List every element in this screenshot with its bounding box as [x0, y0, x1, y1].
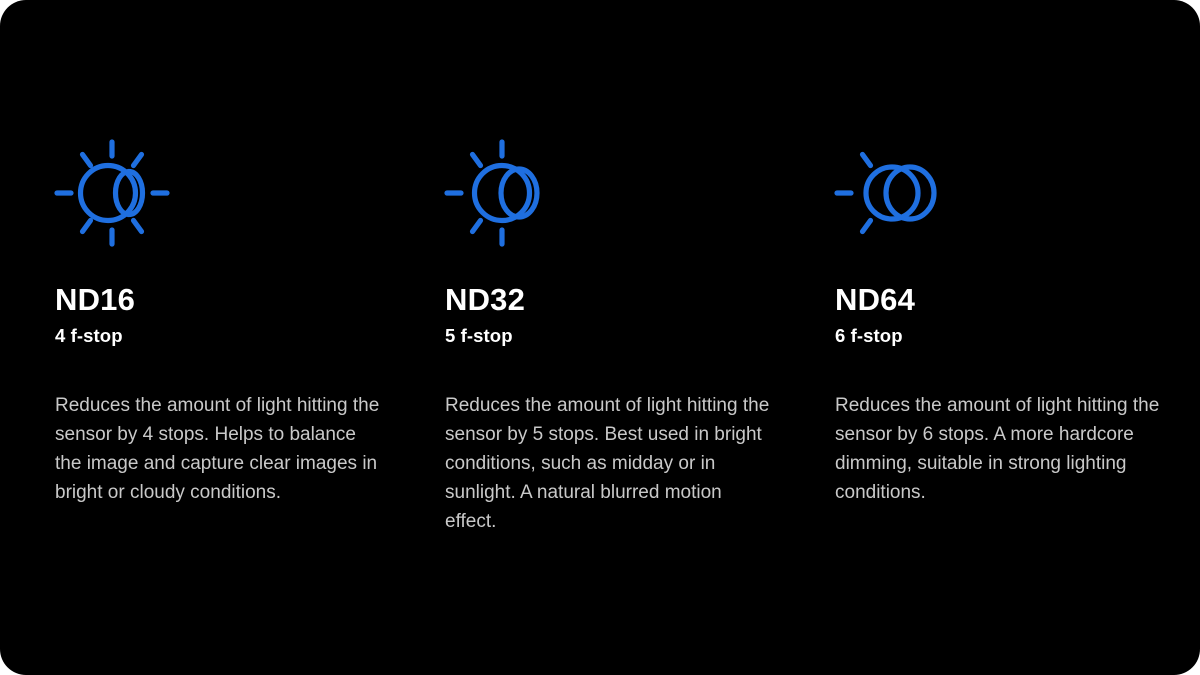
nd-filter-title: ND64: [835, 284, 1190, 315]
nd-filter-card: ND16 4 f-stop Reduces the amount of ligh…: [55, 140, 445, 536]
nd-filter-card: ND32 5 f-stop Reduces the amount of ligh…: [445, 140, 835, 536]
nd-filter-title: ND32: [445, 284, 800, 315]
nd-filter-sun-eclipse-icon: [835, 140, 955, 248]
nd-filter-card: ND64 6 f-stop Reduces the amount of ligh…: [835, 140, 1200, 536]
nd-filter-description: Reduces the amount of light hitting the …: [55, 391, 385, 507]
nd-filter-description: Reduces the amount of light hitting the …: [835, 391, 1165, 507]
nd-filter-title: ND16: [55, 284, 410, 315]
nd-filter-description: Reduces the amount of light hitting the …: [445, 391, 775, 536]
nd-filter-subtitle: 4 f-stop: [55, 327, 410, 346]
nd-filter-subtitle: 5 f-stop: [445, 327, 800, 346]
nd-filter-subtitle: 6 f-stop: [835, 327, 1190, 346]
nd-filter-sun-eclipse-icon: [445, 140, 565, 248]
slide-canvas: ND16 4 f-stop Reduces the amount of ligh…: [0, 0, 1200, 675]
nd-filter-sun-eclipse-icon: [55, 140, 175, 248]
nd-filter-card-grid: ND16 4 f-stop Reduces the amount of ligh…: [55, 140, 1155, 536]
